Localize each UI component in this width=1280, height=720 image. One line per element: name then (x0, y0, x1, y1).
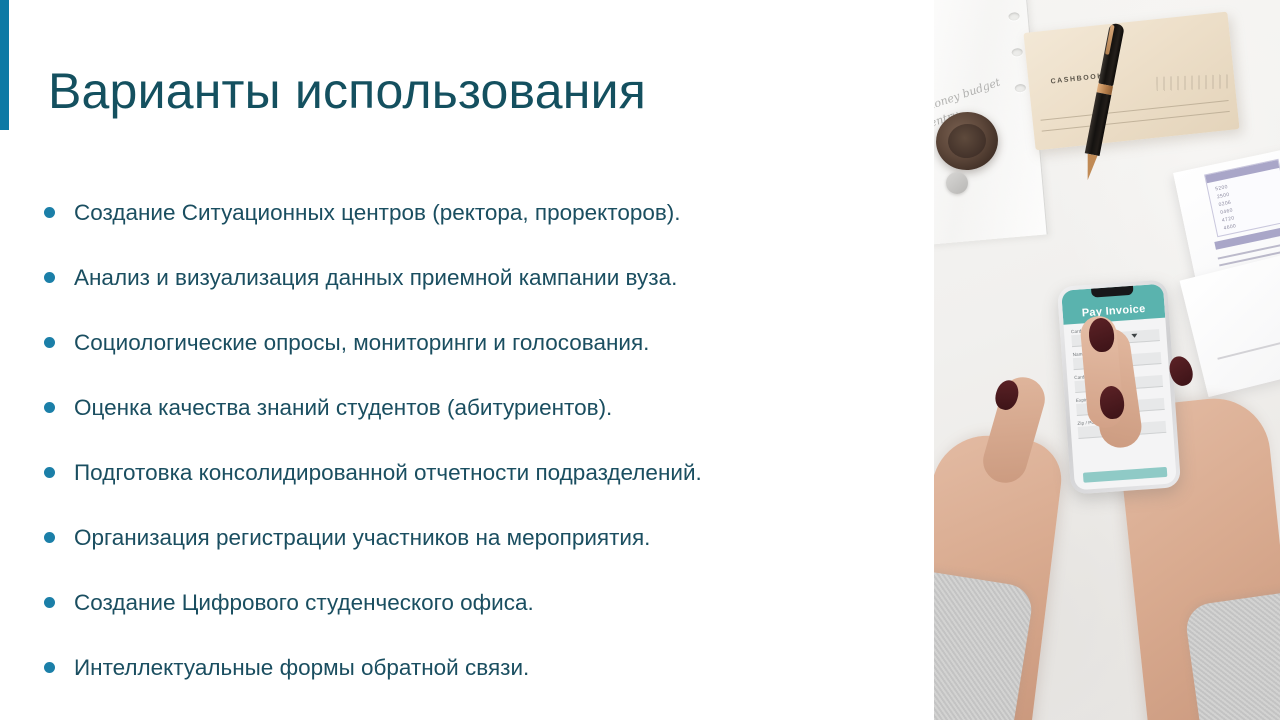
list-item: Создание Цифрового студенческого офиса. (44, 570, 924, 635)
bullet-dot-icon (44, 597, 55, 608)
list-item: Оценка качества знаний студентов (абитур… (44, 375, 924, 440)
title-accent-bar (0, 0, 9, 130)
notebook-label: CASHBOOK (1050, 73, 1104, 86)
bullet-dot-icon (44, 272, 55, 283)
list-item-label: Создание Ситуационных центров (ректора, … (74, 199, 681, 226)
bullet-dot-icon (44, 467, 55, 478)
invoice-table (1204, 159, 1280, 237)
sleeve-hole-icon (1011, 48, 1023, 57)
list-item-label: Оценка качества знаний студентов (абитур… (74, 394, 612, 421)
list-item: Социологические опросы, мониторинги и го… (44, 310, 924, 375)
notebook-rule-line (1041, 100, 1229, 121)
list-item: Подготовка консолидированной отчетности … (44, 440, 924, 505)
list-item-label: Организация регистрации участников на ме… (74, 524, 650, 551)
pay-submit-button[interactable] (1083, 467, 1167, 483)
bullet-dot-icon (44, 662, 55, 673)
list-item: Организация регистрации участников на ме… (44, 505, 924, 570)
list-item-label: Анализ и визуализация данных приемной ка… (74, 264, 677, 291)
list-item-label: Создание Цифрового студенческого офиса. (74, 589, 534, 616)
list-item-label: Интеллектуальные формы обратной связи. (74, 654, 529, 681)
bullet-dot-icon (44, 207, 55, 218)
paper-sheet-line (1217, 340, 1280, 359)
list-item: Анализ и визуализация данных приемной ка… (44, 245, 924, 310)
page-title: Варианты использования (48, 62, 888, 120)
pen-tip (1082, 154, 1097, 181)
notebook-page-edges (1156, 74, 1228, 91)
invoice-table-header (1205, 160, 1279, 183)
use-cases-list: Создание Ситуационных центров (ректора, … (44, 180, 924, 700)
list-item: Интеллектуальные формы обратной связи. (44, 635, 924, 700)
bullet-dot-icon (44, 337, 55, 348)
list-item-label: Подготовка консолидированной отчетности … (74, 459, 702, 486)
cashbook-notebook: CASHBOOK (1023, 12, 1239, 151)
chevron-down-icon (1131, 334, 1137, 338)
slide: Варианты использования Создание Ситуацио… (0, 0, 1280, 720)
coaster-inner-ring (946, 122, 988, 161)
sleeve-hole-icon (1008, 12, 1020, 21)
metal-clip (946, 172, 968, 194)
notebook-rule-line (1042, 111, 1230, 132)
list-item-label: Социологические опросы, мониторинги и го… (74, 329, 649, 356)
list-item: Создание Ситуационных центров (ректора, … (44, 180, 924, 245)
right-shirt-cuff (1184, 590, 1280, 720)
bullet-dot-icon (44, 402, 55, 413)
bullet-dot-icon (44, 532, 55, 543)
decorative-photo: money budget entry CASHBOOK (934, 0, 1280, 720)
